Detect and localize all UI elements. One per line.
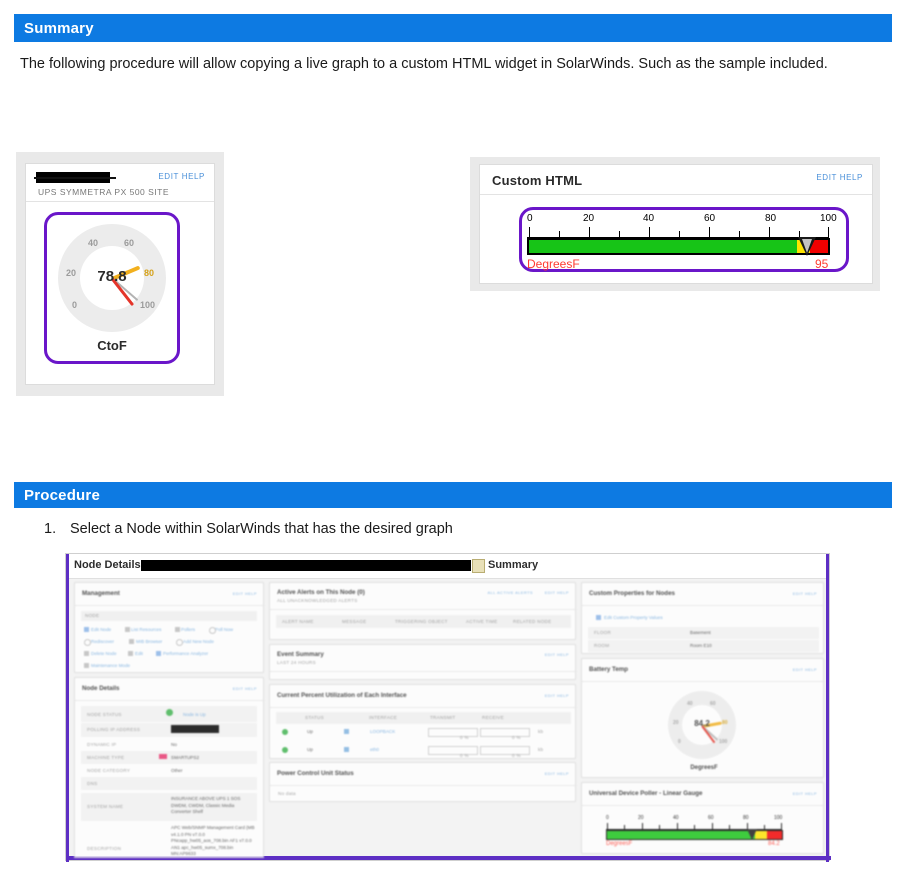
sample-radial-widget-subtitle: UPS SYMMETRA PX 500 SITE [38,187,169,197]
universal-device-poller-title: Universal Device Poller - Linear Gauge [589,790,702,797]
help-link[interactable]: HELP [840,173,863,182]
alerts-col-triggering-object: TRIGGERING OBJECT [395,619,448,624]
step-number: 1. [44,521,56,537]
vendor-icon [159,754,167,759]
radial-gauge-sample: 0 20 40 60 80 100 78.8 CtoF [44,212,180,364]
transmit-bar [428,728,478,737]
interface-type-icon [344,747,349,752]
list-icon [125,627,130,632]
link-performance-analyzer[interactable]: Performance Analyzer [163,651,208,656]
status-dot [166,709,173,716]
gauge-value: 84.2 [682,719,722,728]
lin-tick-major [529,227,530,237]
iface-col-transmit: TRANSMIT [430,715,455,720]
universal-device-poller-linear-gauge: 0 20 40 60 80 100 DegreesF [606,815,796,851]
summary-paragraph: The following procedure will allow copyi… [20,53,858,75]
summary-heading: Summary [24,20,94,37]
custom-html-widget-header: Custom HTML EDIT HELP [480,165,872,195]
bandwidth-unit: kb [538,747,543,752]
link-edit[interactable]: Edit [135,651,143,656]
gauge-value-label: 84.2 [768,841,780,847]
redacted-node-name [141,560,471,571]
link-maintenance-mode[interactable]: Maintenance Mode [91,663,130,668]
step-text: Select a Node within SolarWinds that has… [70,521,453,537]
link-mib-browser[interactable]: MIB Browser [136,639,162,644]
alerts-col-alert-name: ALERT NAME [282,619,314,624]
node-group-stripe [81,611,257,621]
event-summary-panel: Event Summary LAST 24 HOURS EDIT HELP [269,644,576,680]
delete-icon [84,651,89,656]
gauge-tick-100: 100 [140,300,155,310]
universal-device-poller-panel: Universal Device Poller - Linear Gauge E… [581,782,824,854]
refresh-icon [209,627,216,634]
row-value-node-status: Node is Up [183,712,206,717]
link-rediscover[interactable]: Rediscover [91,639,114,644]
breadcrumb-prefix: Node Details - [74,559,147,571]
linear-gauge-bar [527,238,830,255]
node-group-label: NODE [85,613,99,618]
row-value-machine-type: SMARTUPS2 [171,755,199,760]
iface-name: eth0 [370,747,379,752]
analyzer-icon [156,651,161,656]
iface-status-value: Up [307,729,313,734]
lin-tick-label-20: 20 [583,213,594,224]
edit-help-link[interactable]: EDIT HELP [545,693,569,698]
gauge-tick-60: 60 [710,701,716,707]
lin-tick-label-40: 40 [643,213,654,224]
lin-tick-label-60: 60 [704,213,715,224]
row-label-polling-ip: POLLING IP ADDRESS [87,727,140,732]
panel-divider [270,609,577,610]
pencil-icon [596,615,601,620]
redacted-ip-address [171,725,219,733]
alerts-col-related-node: RELATED NODE [513,619,551,624]
gauge-tick-0: 0 [678,739,681,745]
row-value-dynamic-ip: No [171,742,177,747]
row-stripe [81,777,257,790]
custom-properties-panel: Custom Properties for Nodes EDIT HELP Ed… [581,582,824,654]
edit-help-link[interactable]: EDIT HELP [545,652,569,657]
active-alerts-subtitle: ALL UNACKNOWLEDGED ALERTS [277,598,358,603]
transmit-bar [428,746,478,755]
row-label-machine-type: MACHINE TYPE [87,755,124,760]
gauge-unit-label: DegreesF [606,841,632,847]
interface-utilization-panel: Current Percent Utilization of Each Inte… [269,684,576,759]
gauge-value: 78.8 [80,268,144,285]
transmit-value: 0 % [460,735,469,740]
row-label-description: DESCRIPTION [87,846,121,851]
gauge-tick-0: 0 [72,300,77,310]
lin-tick-label-80: 80 [743,815,749,821]
gauge-green-zone [529,240,797,253]
edit-icon [128,651,133,656]
mib-browser-icon [129,639,134,644]
transmit-value: 0 % [460,753,469,758]
gauge-tick-20: 20 [66,268,76,278]
row-label-node-status: NODE STATUS [87,712,122,717]
edit-help-link[interactable]: EDIT HELP [545,771,569,776]
gauge-red-zone [767,831,783,839]
page-icon [472,559,485,573]
custom-properties-title: Custom Properties for Nodes [589,590,675,597]
prop-value-floor: Basement [690,630,711,635]
link-delete-node[interactable]: Delete Node [91,651,117,656]
row-label-dns: DNS [87,781,97,786]
lin-tick-major [828,227,829,237]
edit-help-link[interactable]: EDIT HELP [233,686,257,691]
alerts-col-active-time: ACTIVE TIME [466,619,498,624]
gauge-value-label: 95 [815,257,828,271]
prop-value-room: Room E10 [690,643,712,648]
active-alerts-title: Active Alerts on This Node (0) [277,589,365,596]
battery-temp-panel: Battery Temp EDIT HELP 0 20 40 60 80 100… [581,658,824,778]
rediscover-icon [84,639,91,646]
lin-tick-major [589,227,590,237]
prop-label-floor: FLOOR [594,630,611,635]
node-details-panel-title: Node Details [82,685,119,692]
edit-help-link[interactable]: EDIT HELP [793,591,817,596]
gauge-pointer [747,829,757,840]
row-value-node-category: Other [171,768,183,773]
gauge-caption: DegreesF [661,765,747,771]
custom-html-widget-title: Custom HTML [492,173,582,188]
link-poll-now[interactable]: Poll Now [215,627,233,632]
active-alerts-panel: Active Alerts on This Node (0) ALL UNACK… [269,582,576,640]
gauge-tick-20: 20 [673,720,679,726]
battery-temp-radial-gauge: 0 20 40 60 80 100 84.2 DegreesF [661,689,747,777]
sample-radial-widget: UPS SYMMETRA PX 500 SITE EDIT HELP 0 20 … [25,163,215,385]
link-edit-node[interactable]: Edit Node [91,627,111,632]
iface-col-status: STATUS [305,715,324,720]
lin-tick-label-40: 40 [673,815,679,821]
edit-help-link[interactable]: EDIT HELP [793,667,817,672]
pencil-icon [84,627,89,632]
lin-tick-major [649,227,650,237]
add-node-icon [176,639,183,646]
lin-tick-label-0: 0 [606,815,609,821]
pollers-icon [175,627,180,632]
gauge-tick-100: 100 [719,739,727,745]
gauge-pointer-highlight [802,239,812,253]
iface-col-interface: INTERFACE [369,715,397,720]
node-details-screenshot: Node Details - Summary Management EDIT H… [65,553,830,861]
event-summary-title: Event Summary [277,651,324,658]
gauge-tick-80: 80 [144,268,154,278]
management-panel: Management EDIT HELP NODE Edit Node List… [74,582,264,673]
prop-label-room: ROOM [594,643,609,648]
procedure-section-header: Procedure [14,482,892,508]
lin-tick-label-60: 60 [708,815,714,821]
management-panel-title: Management [82,590,120,597]
status-dot [282,747,288,753]
alerts-col-message: MESSAGE [342,619,366,624]
link-list-resources[interactable]: List Resources [131,627,161,632]
custom-html-widget: Custom HTML EDIT HELP 0 20 40 60 80 100 [479,164,873,284]
panel-divider [582,681,825,682]
lin-tick-label-100: 100 [820,213,837,224]
row-label-system-name: SYSTEM NAME [87,804,123,809]
sample-radial-widget-header: UPS SYMMETRA PX 500 SITE EDIT HELP [26,164,214,202]
interface-utilization-title: Current Percent Utilization of Each Inte… [277,692,407,699]
interface-type-icon [344,729,349,734]
highlight-right-edge [826,554,829,862]
status-dot [282,729,288,735]
power-control-empty-text: No data [278,791,296,796]
summary-section-header: Summary [14,14,892,42]
breadcrumb-suffix: Summary [488,559,538,571]
lin-tick-label-0: 0 [527,213,533,224]
receive-bar [480,746,530,755]
lin-tick-label-100: 100 [774,815,782,821]
gauge-unit-label: DegreesF [527,257,580,271]
panel-divider [270,707,577,708]
help-link[interactable]: HELP [182,172,205,181]
maintenance-icon [84,663,89,668]
receive-value: 0 % [512,735,521,740]
panel-divider [582,805,825,806]
panel-divider [582,605,825,606]
edit-custom-property-values-link[interactable]: Edit Custom Property Values [604,615,663,620]
power-control-panel: Power Control Unit Status EDIT HELP No d… [269,762,576,802]
edit-help-link[interactable]: EDIT HELP [233,591,257,596]
highlight-left-edge [66,554,69,862]
edit-link[interactable]: EDIT [816,173,837,182]
link-pollers[interactable]: Pollers [181,627,195,632]
receive-value: 0 % [512,753,521,758]
power-control-title: Power Control Unit Status [277,770,354,777]
link-add-new-node[interactable]: Add New Node [183,639,214,644]
lin-tick-major [709,227,710,237]
panel-divider [75,605,265,606]
gauge-tick-40: 40 [88,238,98,248]
event-summary-subtitle: LAST 24 HOURS [277,660,316,665]
gauge-caption: CtoF [44,338,180,353]
iface-col-receive: RECEIVE [482,715,504,720]
iface-name: LOOPBACK [370,729,395,734]
edit-help-link[interactable]: EDIT HELP [793,791,817,796]
panel-divider [270,785,577,786]
row-label-dynamic-ip: DYNAMIC IP [87,742,116,747]
gauge-tick-80: 80 [722,720,728,726]
receive-bar [480,728,530,737]
row-label-node-category: NODE CATEGORY [87,768,130,773]
gauge-green-zone [607,831,755,839]
row-value-description: APC Web/SNMP Management Card (MB v4.1.0 … [171,825,255,858]
battery-temp-title: Battery Temp [589,666,628,673]
node-details-panel: Node Details EDIT HELP NODE STATUS Node … [74,677,264,858]
lin-tick-label-20: 20 [638,815,644,821]
procedure-heading: Procedure [24,487,100,504]
all-active-alerts-link[interactable]: ALL ACTIVE ALERTS [488,590,534,595]
gauge-tick-60: 60 [124,238,134,248]
bandwidth-unit: kb [538,729,543,734]
redaction-strikethrough [34,177,116,179]
edit-help-link[interactable]: EDIT HELP [545,590,569,595]
lin-tick-major [769,227,770,237]
gauge-tick-40: 40 [687,701,693,707]
panel-divider [75,700,265,701]
linear-gauge-sample: 0 20 40 60 80 100 DegreesF 95 [527,213,842,267]
row-value-system-name: INSURANCE ABOVE UPS 1 SOS DWDM, CWDM, Cl… [171,796,255,816]
lin-tick-label-80: 80 [765,213,776,224]
edit-link[interactable]: EDIT [158,172,179,181]
iface-status-value: Up [307,747,313,752]
panel-divider [270,671,577,672]
